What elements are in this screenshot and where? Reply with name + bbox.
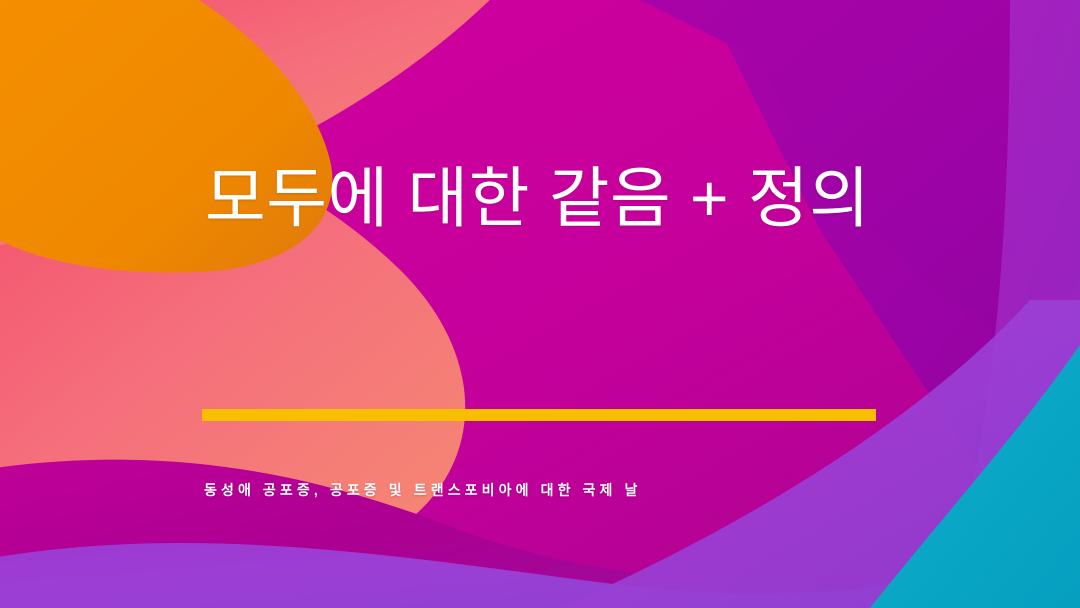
slide-content: 모두에 대한 같음 + 정의 동성애 공포증, 공포증 및 트랜스포비아에 대한… [0,0,1080,608]
presentation-slide: 모두에 대한 같음 + 정의 동성애 공포증, 공포증 및 트랜스포비아에 대한… [0,0,1080,608]
slide-subtitle: 동성애 공포증, 공포증 및 트랜스포비아에 대한 국제 날 [204,481,1004,499]
title-divider-bar [202,409,876,421]
slide-title: 모두에 대한 같음 + 정의 [205,160,895,237]
